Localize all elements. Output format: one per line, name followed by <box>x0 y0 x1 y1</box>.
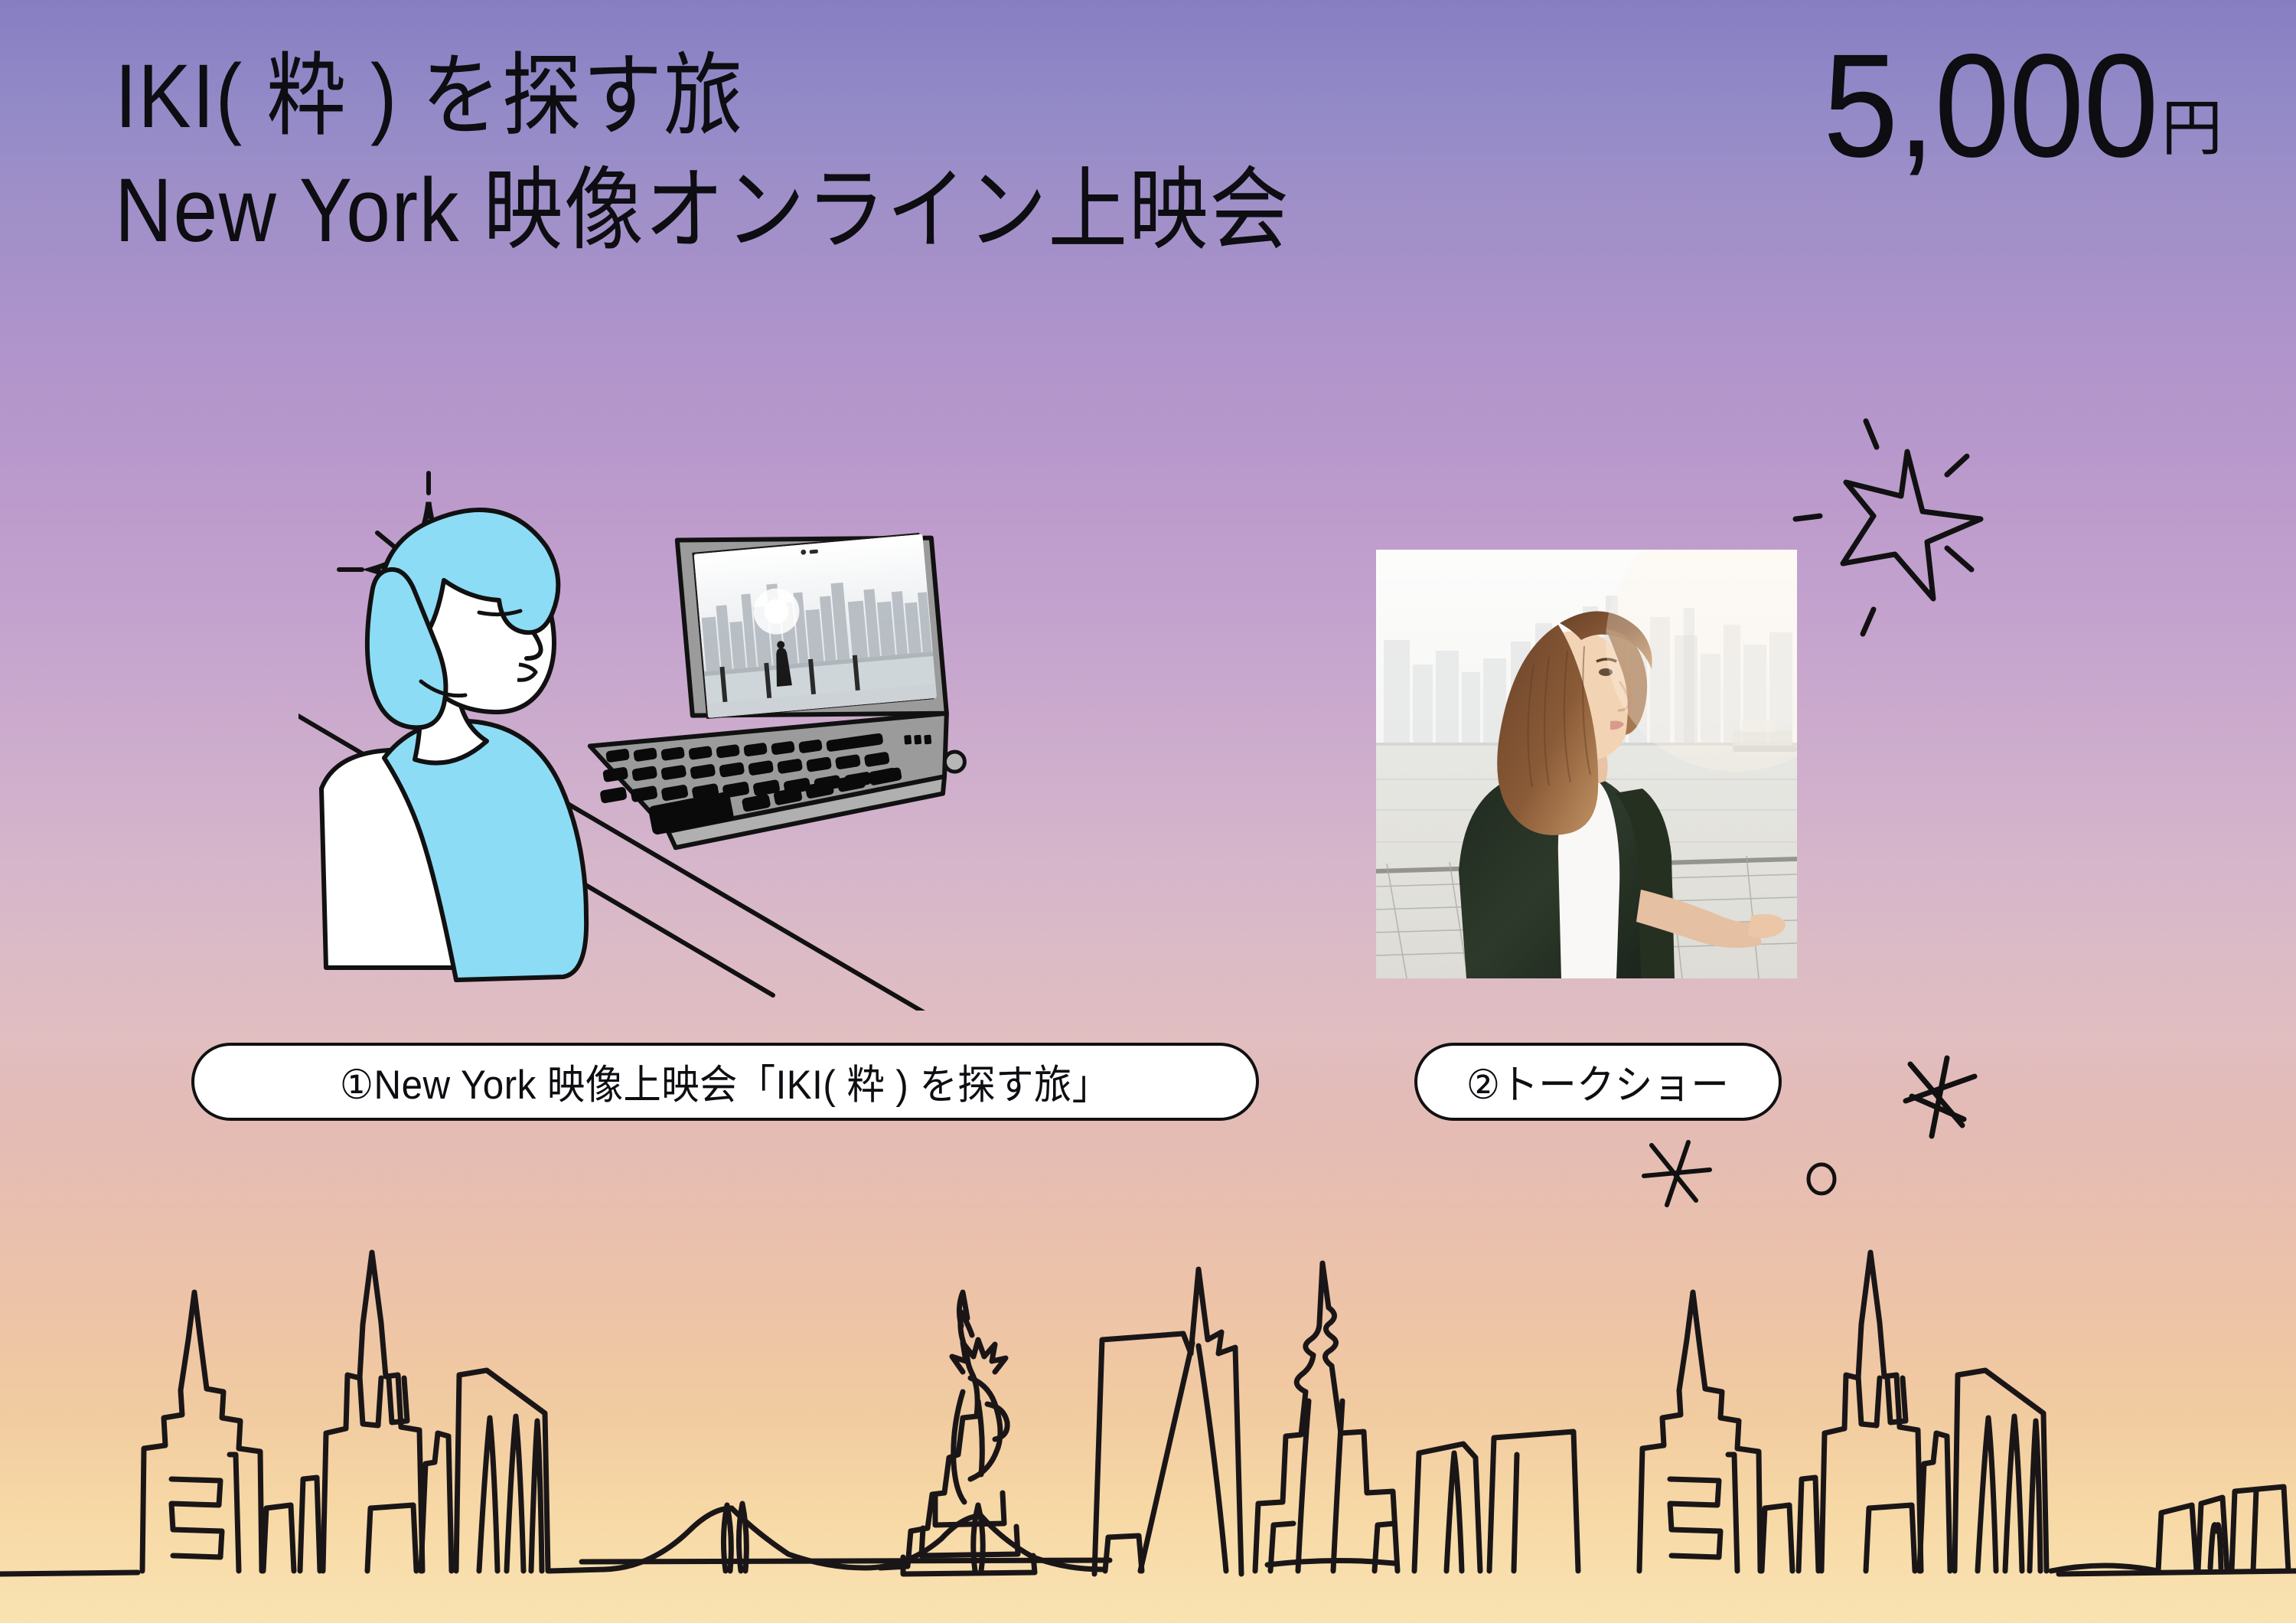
section-label-pill-1[interactable]: ①New York 映像上映会「IKI( 粋 ) を探す旅」 <box>191 1043 1259 1121</box>
new-york-skyline-line-art <box>0 1148 2296 1623</box>
price-amount: 5,000 <box>1823 35 2158 176</box>
statue-of-liberty <box>880 1292 1035 1574</box>
laptop <box>572 517 970 854</box>
photo-woman-nyc-waterfront <box>1376 550 1797 978</box>
price-block: 5,000 円 <box>1794 35 2223 176</box>
desk-line-2 <box>568 804 1033 1011</box>
page-title: IKI( 粋 ) を探す旅 New York 映像オンライン上映会 <box>115 40 1450 267</box>
price-currency-suffix: 円 <box>2158 98 2223 176</box>
poster-canvas: IKI( 粋 ) を探す旅 New York 映像オンライン上映会 5,000 … <box>0 0 2296 1623</box>
section-label-text-2: ②トークショー <box>1466 1053 1729 1111</box>
section-label-pill-2[interactable]: ②トークショー <box>1414 1043 1782 1121</box>
title-line-2: New York 映像オンライン上映会 <box>115 154 1290 268</box>
star-five-point-icon <box>1783 404 2043 634</box>
illustration-woman-watching-laptop <box>298 459 1033 1011</box>
title-line-1: IKI( 粋 ) を探す旅 <box>115 40 1290 154</box>
section-label-text-1: ①New York 映像上映会「IKI( 粋 ) を探す旅」 <box>340 1053 1110 1111</box>
